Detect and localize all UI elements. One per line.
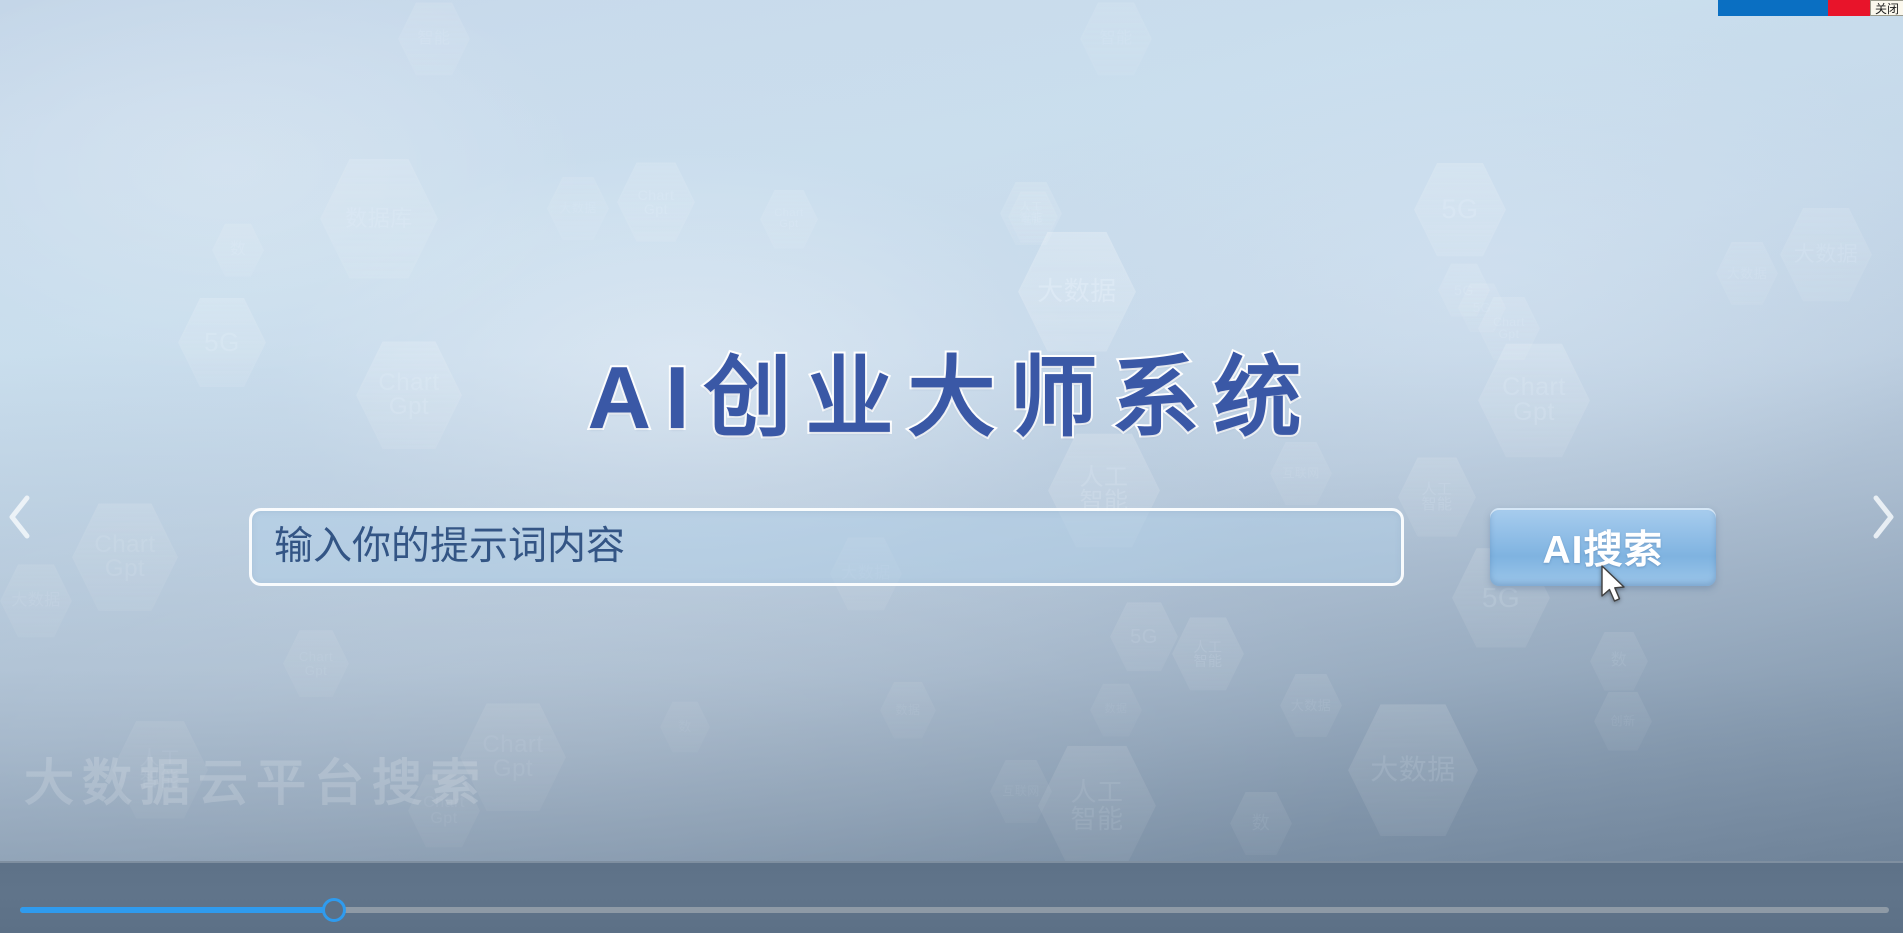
bottom-bar [0, 861, 1903, 933]
progress-slider[interactable] [20, 907, 1889, 913]
app-root: 数据库大数据Chart Gpt5G大数据大数据人工 智能5GChart Gpt5… [0, 0, 1903, 933]
carousel-prev-button[interactable] [2, 489, 36, 545]
titlebar-blue-segment [1718, 0, 1828, 16]
page-title: AI创业大师系统 [587, 327, 1315, 454]
background-gradient [0, 0, 1903, 933]
search-row: AI搜索 [249, 508, 1716, 586]
carousel-next-button[interactable] [1867, 489, 1901, 545]
chevron-right-icon [1871, 494, 1897, 540]
slider-fill [20, 907, 334, 913]
slider-handle[interactable] [322, 898, 346, 922]
search-input[interactable] [249, 508, 1404, 586]
ai-search-button[interactable]: AI搜索 [1490, 508, 1716, 586]
window-controls-strip: 关闭 [1718, 0, 1903, 16]
titlebar-red-segment [1828, 0, 1870, 16]
close-button[interactable]: 关闭 [1870, 0, 1903, 16]
chevron-left-icon [6, 494, 32, 540]
